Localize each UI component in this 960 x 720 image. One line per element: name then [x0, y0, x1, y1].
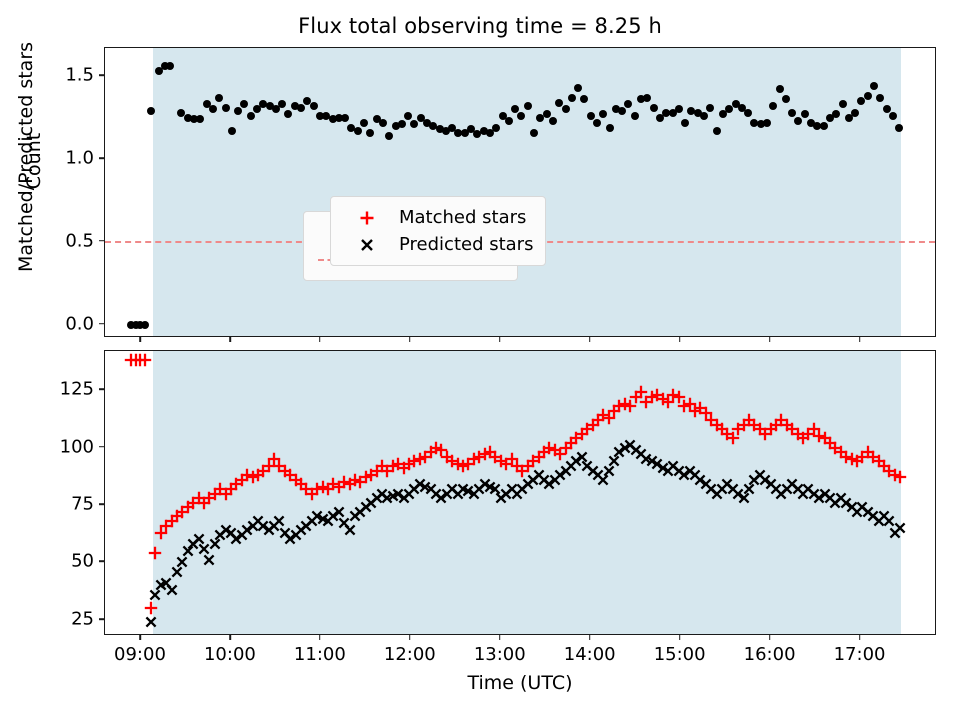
scatter-plot-area-bottom — [105, 351, 935, 634]
y-tick-mark — [99, 388, 104, 390]
legend-bottom[interactable]: Matched stars Predicted stars — [330, 196, 546, 266]
x-tick-label: 13:00 — [474, 644, 526, 665]
x-tick-mark — [499, 635, 501, 640]
y-tick-label: 75 — [0, 493, 94, 514]
data-point — [574, 84, 582, 92]
data-point — [202, 553, 216, 567]
data-point — [606, 124, 614, 132]
data-point — [524, 102, 532, 110]
x-tick-mark — [679, 635, 681, 640]
data-point — [144, 615, 158, 629]
x-tick-mark — [589, 635, 591, 640]
data-point — [832, 110, 840, 118]
data-point — [568, 94, 576, 102]
data-point — [599, 110, 607, 118]
y-tick-mark — [99, 561, 104, 563]
x-tick-label: 17:00 — [834, 644, 886, 665]
data-point — [801, 110, 809, 118]
data-point — [404, 112, 412, 120]
x-tick-mark — [679, 337, 681, 342]
y-tick-mark — [99, 74, 104, 76]
data-point — [889, 112, 897, 120]
data-point — [398, 120, 406, 128]
legend-label-matched-stars: Matched stars — [399, 207, 526, 228]
panel-ratio — [104, 47, 936, 337]
data-point — [144, 601, 158, 615]
data-point — [209, 105, 217, 113]
data-point — [624, 100, 632, 108]
plus-marker-icon — [341, 210, 393, 226]
data-point — [354, 127, 362, 135]
data-point — [562, 105, 570, 113]
y-tick-mark — [99, 618, 104, 620]
data-point — [618, 107, 626, 115]
x-tick-label: 09:00 — [114, 644, 166, 665]
data-point — [385, 132, 393, 140]
page-title: Flux total observing time = 8.25 h — [0, 14, 960, 38]
data-point — [196, 115, 204, 123]
data-point — [505, 117, 513, 125]
x-tick-label: 10:00 — [204, 644, 256, 665]
y-tick-label: 50 — [0, 551, 94, 572]
data-point — [366, 129, 374, 137]
x-tick-mark — [139, 635, 141, 640]
data-point — [360, 119, 368, 127]
data-point — [343, 523, 357, 537]
y-tick-label: 0.0 — [0, 313, 94, 334]
data-point — [706, 104, 714, 112]
x-tick-label: 16:00 — [744, 644, 796, 665]
x-tick-label: 14:00 — [564, 644, 616, 665]
data-point — [215, 94, 223, 102]
data-point — [876, 94, 884, 102]
y-tick-mark — [99, 240, 104, 242]
data-point — [893, 470, 907, 484]
data-point — [297, 104, 305, 112]
y-tick-mark — [99, 323, 104, 325]
x-tick-label: 11:00 — [294, 644, 346, 665]
data-point — [851, 109, 859, 117]
data-point — [820, 122, 828, 130]
data-point — [700, 112, 708, 120]
data-point — [744, 109, 752, 117]
data-point — [782, 95, 790, 103]
data-point — [893, 521, 907, 535]
data-point — [643, 94, 651, 102]
figure-root: Flux total observing time = 8.25 h Match… — [0, 0, 960, 720]
y-tick-label: 100 — [0, 436, 94, 457]
cross-marker-icon — [341, 237, 393, 253]
legend-item-predicted-stars[interactable]: Predicted stars — [341, 231, 533, 258]
data-point — [141, 321, 149, 329]
data-point — [166, 62, 174, 70]
x-tick-mark — [319, 635, 321, 640]
data-point — [839, 100, 847, 108]
x-tick-mark — [769, 337, 771, 342]
data-point — [549, 117, 557, 125]
x-tick-mark — [859, 635, 861, 640]
x-tick-mark — [859, 337, 861, 342]
data-point — [278, 100, 286, 108]
data-point — [794, 117, 802, 125]
data-point — [379, 119, 387, 127]
x-tick-mark — [409, 635, 411, 640]
data-point — [492, 124, 500, 132]
data-point — [650, 104, 658, 112]
x-tick-mark — [319, 337, 321, 342]
x-tick-label: 12:00 — [384, 644, 436, 665]
data-point — [138, 353, 152, 367]
data-point — [681, 119, 689, 127]
data-point — [763, 119, 771, 127]
data-point — [310, 102, 318, 110]
data-point — [895, 124, 903, 132]
y-tick-label: 125 — [0, 379, 94, 400]
y-tick-mark — [99, 157, 104, 159]
data-point — [247, 112, 255, 120]
legend-label-predicted-stars: Predicted stars — [399, 234, 533, 255]
x-axis-label: Time (UTC) — [104, 672, 936, 694]
data-point — [234, 107, 242, 115]
x-tick-mark — [499, 337, 501, 342]
x-tick-label: 15:00 — [654, 644, 706, 665]
scatter-plot-area-top — [105, 48, 935, 336]
y-tick-mark — [99, 446, 104, 448]
data-point — [864, 92, 872, 100]
data-point — [530, 129, 538, 137]
data-point — [788, 109, 796, 117]
data-point — [675, 105, 683, 113]
x-tick-mark — [229, 635, 231, 640]
data-point — [517, 112, 525, 120]
x-tick-mark — [589, 337, 591, 342]
data-point — [165, 583, 179, 597]
data-point — [410, 120, 418, 128]
data-point — [147, 107, 155, 115]
data-point — [148, 546, 162, 560]
x-tick-mark — [139, 337, 141, 342]
data-point — [222, 104, 230, 112]
data-point — [769, 102, 777, 110]
data-point — [593, 119, 601, 127]
x-tick-mark — [769, 635, 771, 640]
x-tick-mark — [409, 337, 411, 342]
data-point — [580, 95, 588, 103]
x-tick-mark — [229, 337, 231, 342]
y-tick-label: 1.0 — [0, 148, 94, 169]
data-point — [240, 100, 248, 108]
y-tick-label: 0.5 — [0, 230, 94, 251]
panel-count — [104, 350, 936, 635]
data-point — [713, 127, 721, 135]
y-tick-label: 1.5 — [0, 65, 94, 86]
data-point — [284, 110, 292, 118]
legend-item-matched-stars[interactable]: Matched stars — [341, 204, 533, 231]
data-point — [776, 85, 784, 93]
data-point — [341, 114, 349, 122]
data-point — [870, 82, 878, 90]
y-tick-mark — [99, 503, 104, 505]
data-point — [631, 112, 639, 120]
data-point — [228, 127, 236, 135]
y-tick-label: 25 — [0, 608, 94, 629]
